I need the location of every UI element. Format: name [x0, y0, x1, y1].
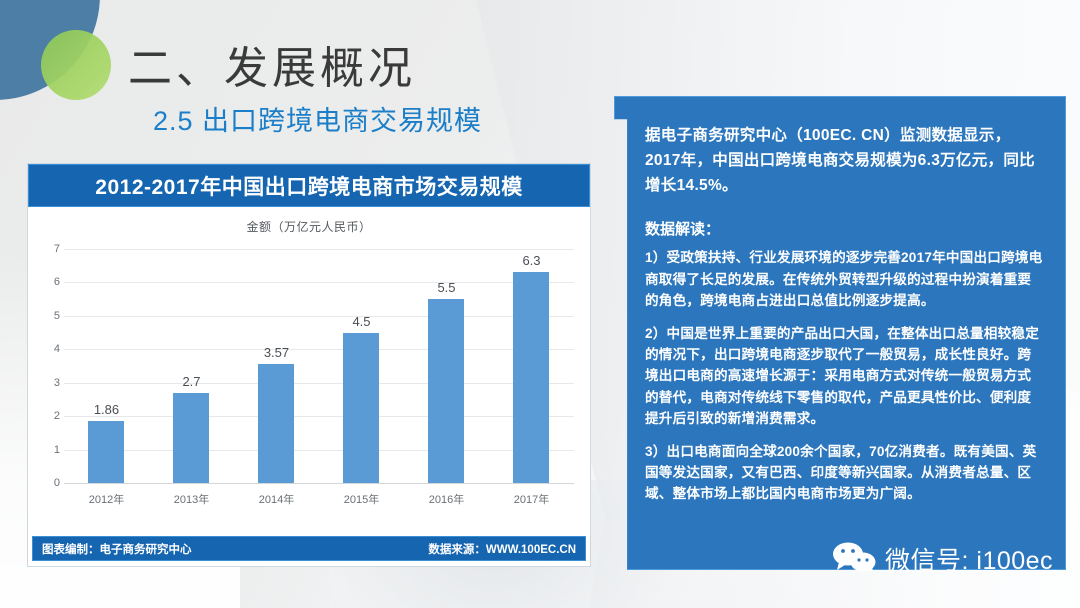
page-subtitle: 2.5 出口跨境电商交易规模 — [153, 99, 482, 138]
chart-y-tick-label: 2 — [38, 410, 60, 422]
chart-bar — [428, 299, 464, 483]
chart-footer-bar: 图表编制：电子商务研究中心 数据来源：WWW.100EC.CN — [32, 536, 586, 561]
decorative-green-circle — [41, 30, 111, 100]
chart-title-bar: 2012-2017年中国出口跨境电商市场交易规模 — [28, 164, 590, 207]
chart-bar-slot: 2.7 — [154, 249, 228, 483]
info-panel-section-title: 数据解读： — [645, 218, 1043, 239]
chart-x-tick-label: 2016年 — [409, 491, 483, 507]
wechat-watermark-text: 微信号: i100ec — [885, 541, 1053, 577]
chart-bar — [88, 421, 124, 483]
chart-bar — [258, 364, 294, 483]
chart-x-axis-labels: 2012年2013年2014年2015年2016年2017年 — [64, 491, 574, 507]
chart-plot-area: 1.862.73.574.55.56.3 — [64, 249, 574, 483]
chart-x-tick-label: 2012年 — [69, 491, 143, 507]
info-panel: 据电子商务研究中心（100EC. CN）监测数据显示，2017年，中国出口跨境电… — [614, 96, 1066, 570]
chart-bar-slot: 4.5 — [324, 249, 398, 483]
chart-bar-slot: 6.3 — [494, 249, 568, 483]
chart-bar-value-label: 2.7 — [182, 374, 200, 389]
chart-bar-value-label: 5.5 — [437, 280, 455, 295]
chart-x-tick-label: 2013年 — [154, 491, 228, 507]
chart-bar-slot: 1.86 — [69, 249, 143, 483]
chart-x-tick-label: 2015年 — [324, 491, 398, 507]
chart-bar — [513, 272, 549, 483]
chart-y-tick-label: 0 — [38, 477, 60, 489]
chart-footer-source: 数据来源：WWW.100EC.CN — [428, 541, 576, 557]
slide-canvas: 二、发展概况 2.5 出口跨境电商交易规模 2012-2017年中国出口跨境电商… — [0, 0, 1080, 608]
chart-y-tick-label: 3 — [38, 377, 60, 389]
info-panel-content: 据电子商务研究中心（100EC. CN）监测数据显示，2017年，中国出口跨境电… — [615, 97, 1065, 527]
chart-card: 2012-2017年中国出口跨境电商市场交易规模 金额（万亿元人民币） 1.86… — [27, 163, 591, 567]
chart-x-tick-label: 2017年 — [494, 491, 568, 507]
chart-bar — [173, 393, 209, 483]
chart-bar-value-label: 3.57 — [264, 345, 289, 360]
chart-y-tick-label: 7 — [38, 243, 60, 255]
wechat-icon — [832, 542, 876, 577]
chart-bar-slot: 5.5 — [409, 249, 483, 483]
chart-bar-series: 1.862.73.574.55.56.3 — [64, 249, 574, 483]
chart-y-tick-label: 1 — [38, 444, 60, 456]
chart-title: 2012-2017年中国出口跨境电商市场交易规模 — [95, 171, 522, 201]
chart-bar-value-label: 6.3 — [522, 253, 540, 268]
page-title: 二、发展概况 — [128, 32, 416, 96]
chart-x-tick-label: 2014年 — [239, 491, 313, 507]
chart-y-tick-label: 5 — [38, 310, 60, 322]
info-panel-paragraph: 2）中国是世界上重要的产品出口大国，在整体出口总量相较稳定的情况下，出口跨境电商… — [645, 323, 1043, 429]
chart-bar-value-label: 4.5 — [352, 314, 370, 329]
chart-gridline — [64, 483, 574, 484]
chart-footer-credit: 图表编制：电子商务研究中心 — [42, 541, 192, 557]
chart-axis-unit-label: 金额（万亿元人民币） — [28, 218, 590, 235]
wechat-watermark: 微信号: i100ec — [832, 541, 1053, 577]
chart-y-tick-label: 6 — [38, 276, 60, 288]
chart-bar — [343, 333, 379, 483]
info-panel-lead: 据电子商务研究中心（100EC. CN）监测数据显示，2017年，中国出口跨境电… — [645, 123, 1043, 198]
chart-bar-value-label: 1.86 — [94, 402, 119, 417]
info-panel-paragraph: 3）出口电商面向全球200余个国家，70亿消费者。既有美国、英国等发达国家，又有… — [645, 441, 1043, 505]
info-panel-paragraph: 1）受政策扶持、行业发展环境的逐步完善2017年中国出口跨境电商取得了长足的发展… — [645, 247, 1043, 311]
chart-plot-wrapper: 1.862.73.574.55.56.3 76543210 2012年2013年… — [38, 241, 580, 509]
chart-bar-slot: 3.57 — [239, 249, 313, 483]
chart-y-tick-label: 4 — [38, 343, 60, 355]
